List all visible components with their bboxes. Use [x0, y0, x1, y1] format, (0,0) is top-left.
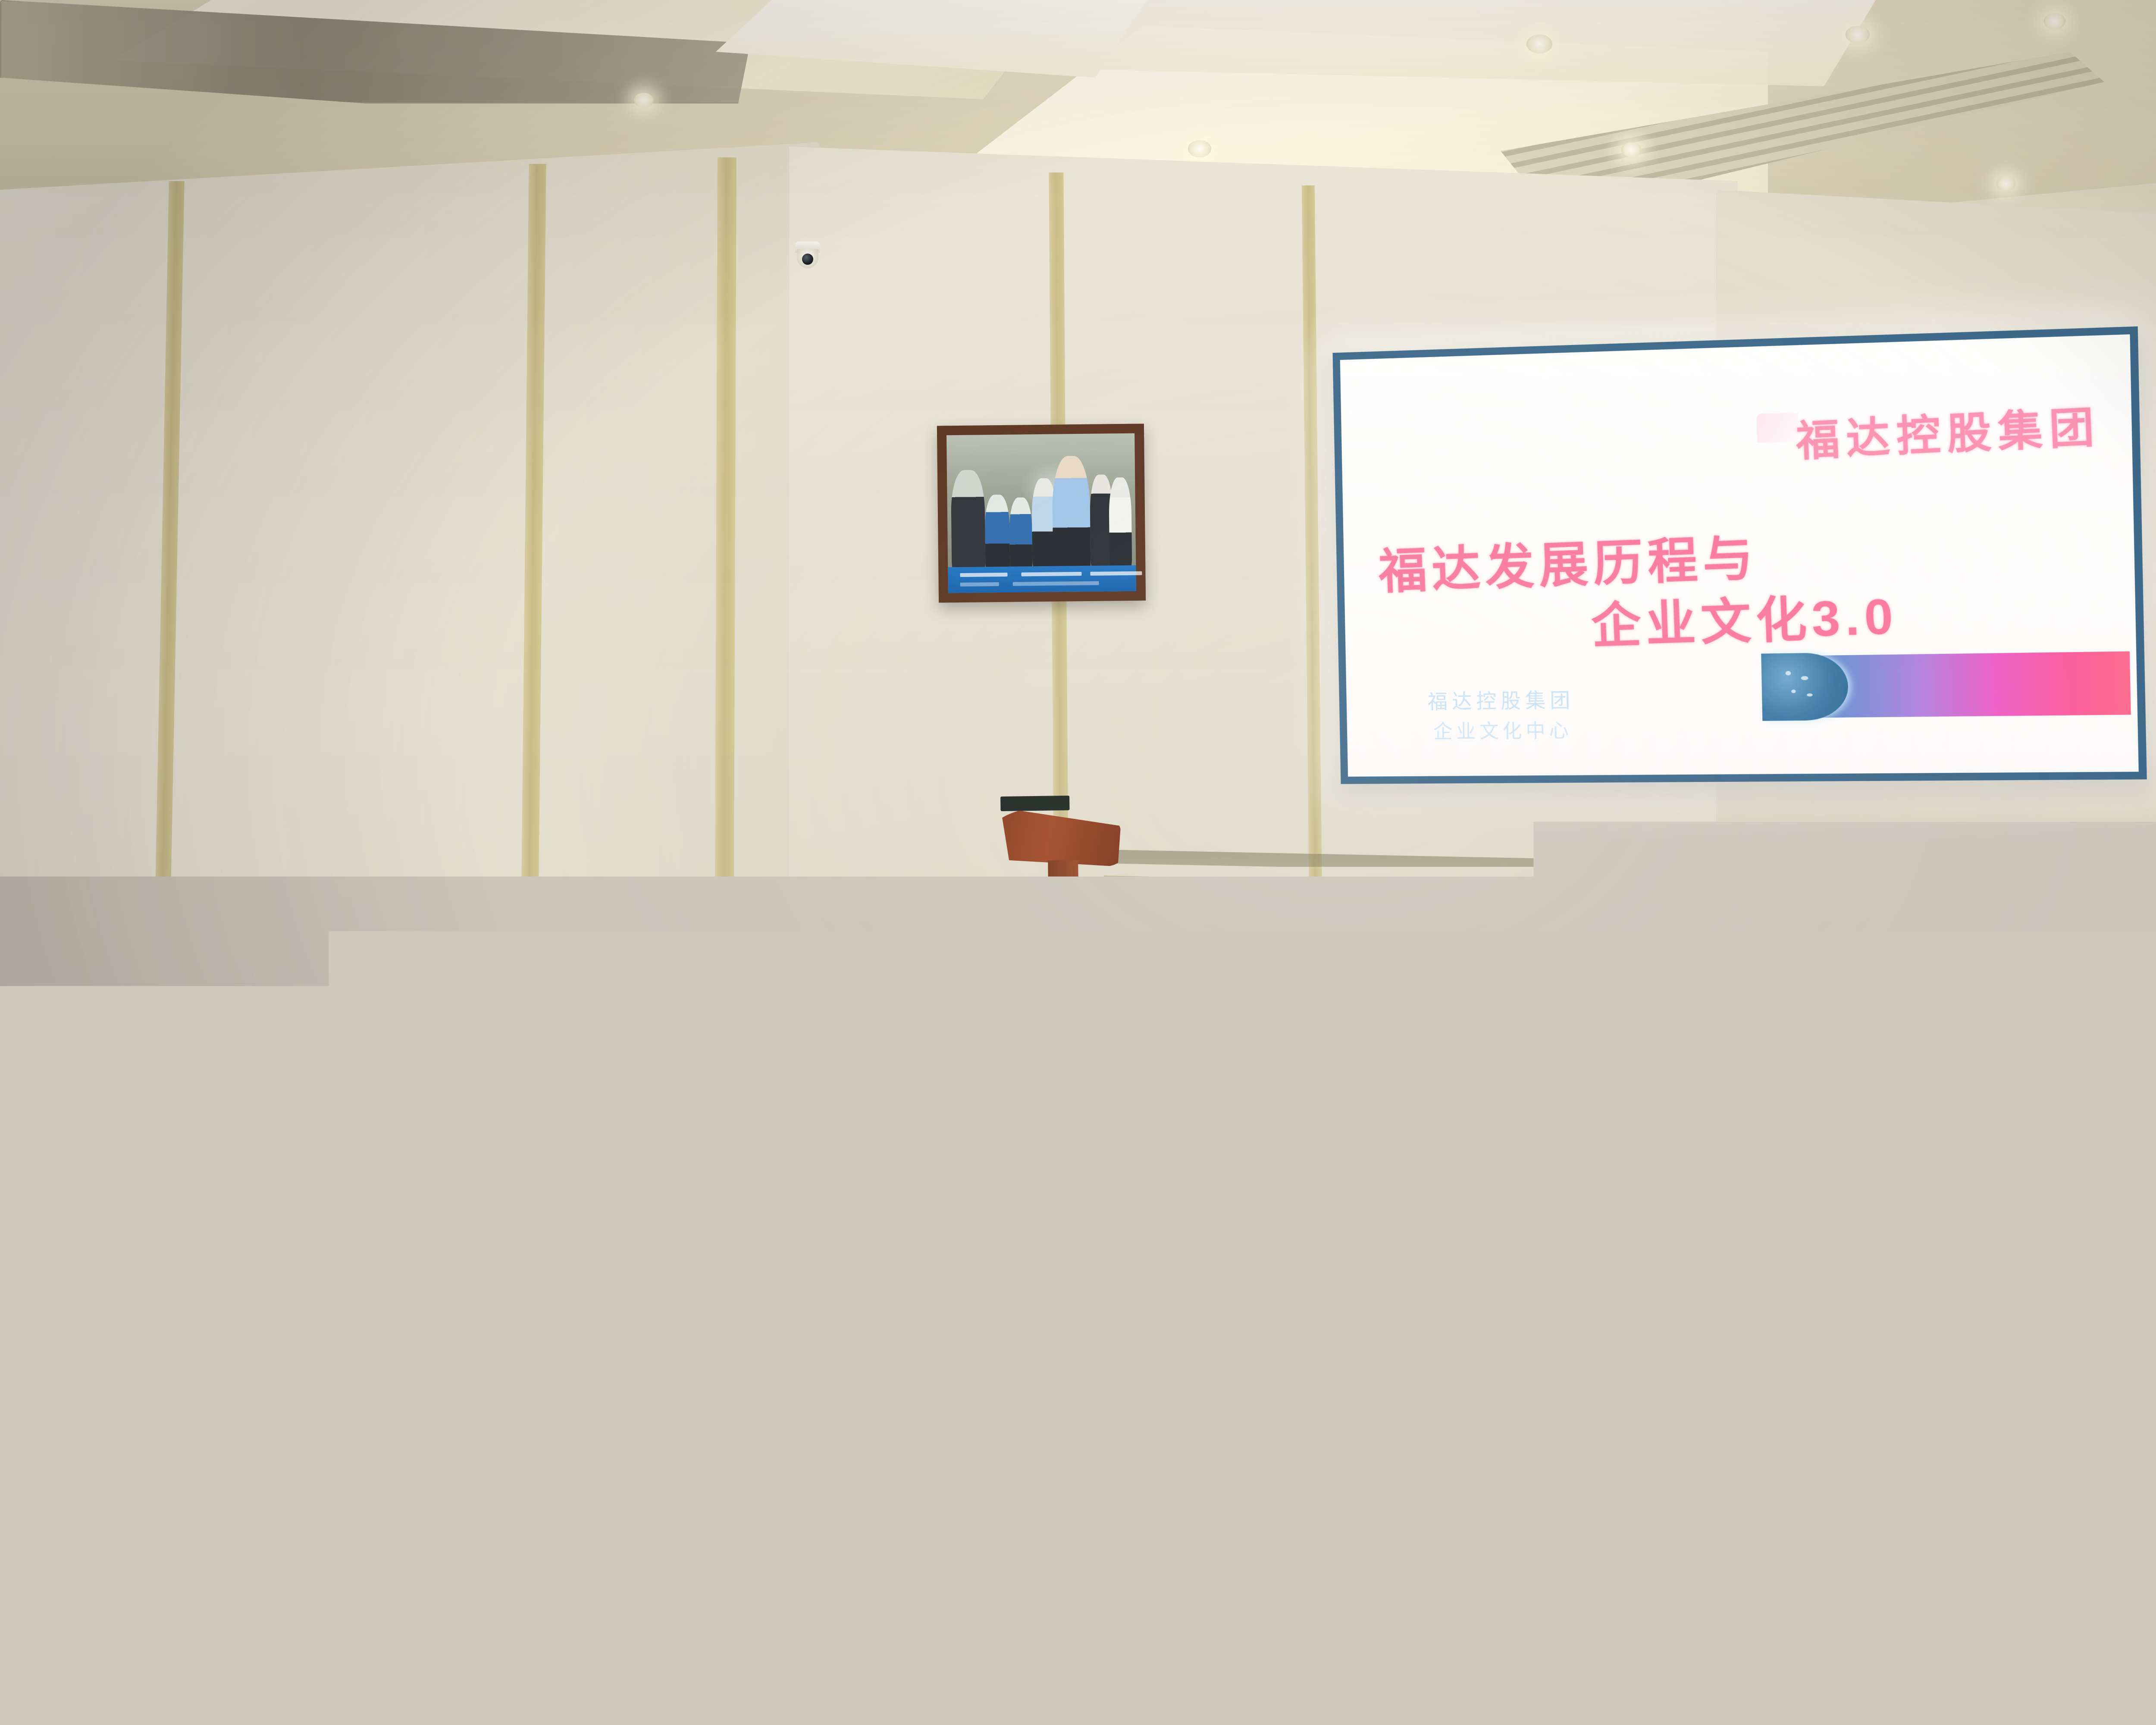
- conference-room-photo: 福达控股集团 福达发展历程与 企业文化3.0 福达控股集团 企业文化中心: [0, 0, 2156, 1725]
- chair: [68, 1423, 355, 1725]
- chair: [975, 1496, 1302, 1725]
- chair: [1499, 1532, 1830, 1725]
- chair: [2107, 1492, 2156, 1725]
- chair: [347, 1468, 644, 1725]
- chairs-front-layer: [0, 0, 2156, 1725]
